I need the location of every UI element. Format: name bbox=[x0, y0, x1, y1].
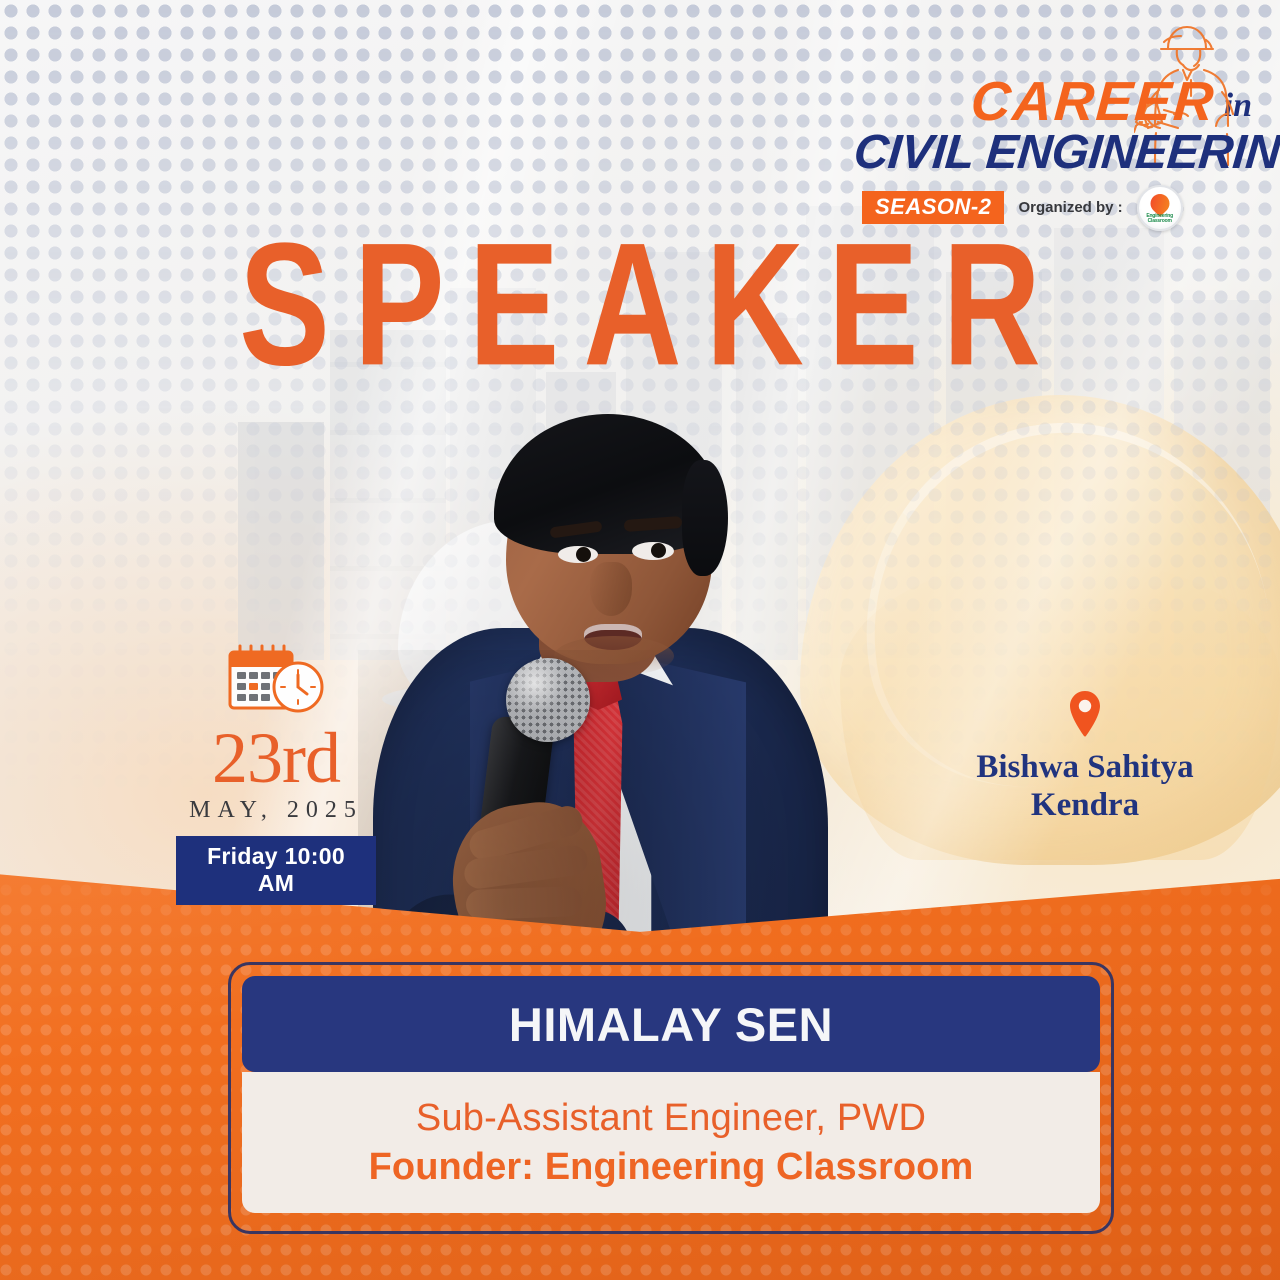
logo-meta-row: SEASON-2 Organized by : EngineeringClass… bbox=[854, 185, 1252, 231]
calendar-clock-icon bbox=[224, 644, 328, 714]
event-time-badge: Friday 10:00 AM bbox=[176, 836, 376, 905]
logo-line-career: CAREER in bbox=[854, 76, 1252, 127]
speaker-name-header: HIMALAY SEN bbox=[242, 976, 1100, 1072]
organized-by-label: Organized by : bbox=[1018, 199, 1122, 216]
speaker-role-body: Sub-Assistant Engineer, PWD Founder: Eng… bbox=[242, 1072, 1100, 1213]
event-day: 23rd bbox=[176, 724, 376, 793]
event-date-block: 23rd MAY, 2025 Friday 10:00 AM bbox=[176, 644, 376, 905]
logo-career-word: CAREER bbox=[970, 76, 1218, 127]
event-logo: CAREER in CIVIL ENGINEERING SEASON-2 Org… bbox=[854, 76, 1252, 231]
map-pin-icon bbox=[1067, 690, 1103, 738]
organizer-badge-text: EngineeringClassroom bbox=[1146, 214, 1173, 225]
event-venue-block: Bishwa Sahitya Kendra bbox=[945, 690, 1225, 825]
season-badge: SEASON-2 bbox=[862, 191, 1004, 224]
speaker-name-card: HIMALAY SEN Sub-Assistant Engineer, PWD … bbox=[228, 962, 1114, 1234]
logo-field-word: CIVIL ENGINEERING bbox=[852, 129, 1254, 177]
microphone-icon bbox=[506, 658, 590, 742]
speaker-announcement-poster: SPEAKER CAREER bbox=[0, 0, 1280, 1280]
page-title: SPEAKER bbox=[51, 218, 1229, 393]
speaker-name: HIMALAY SEN bbox=[509, 997, 833, 1052]
event-month-year: MAY, 2025 bbox=[176, 797, 376, 824]
organizer-logo-badge: EngineeringClassroom bbox=[1137, 185, 1183, 231]
speaker-role-secondary: Founder: Engineering Classroom bbox=[369, 1146, 974, 1189]
venue-name: Bishwa Sahitya Kendra bbox=[945, 748, 1225, 825]
speaker-role-primary: Sub-Assistant Engineer, PWD bbox=[416, 1097, 926, 1140]
